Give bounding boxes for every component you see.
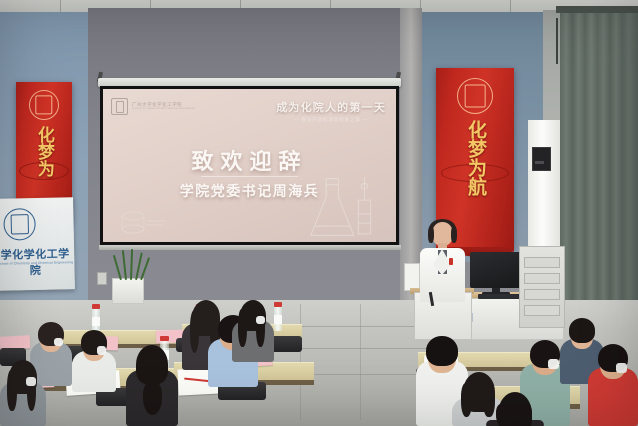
banner-right-crest-icon — [457, 78, 493, 114]
slide-subtitle: 学院党委书记周海兵 — [103, 181, 396, 201]
face-mask — [97, 346, 107, 355]
face-mask — [256, 316, 265, 325]
slide-kicker-sub: — 看见开启科课程明象之旅 — — [276, 117, 386, 123]
keyboard[interactable] — [478, 294, 524, 299]
speaker-badge — [449, 258, 453, 265]
wall-control-box-icon[interactable] — [532, 147, 551, 171]
slide-kicker: 成为化院人的第一天 — 看见开启科课程明象之旅 — — [276, 99, 386, 123]
university-crest-icon — [111, 98, 128, 115]
school-poster: 学化学化工学院 School of Chemistry and Chemical… — [0, 197, 75, 291]
slide-logo-en: SCHOOL OF CHEMISTRY AND CHEMICAL ENGINEE… — [132, 108, 195, 111]
curtain-rod — [556, 6, 638, 13]
student-hair — [426, 336, 457, 366]
wall-socket[interactable] — [97, 272, 107, 285]
student-hair — [569, 318, 596, 343]
presentation-slide: 广州大学化学化工学院 SCHOOL OF CHEMISTRY AND CHEMI… — [103, 89, 396, 242]
slide-divider — [201, 176, 298, 177]
beaker-line-art-icon — [117, 208, 179, 238]
lecture-hall-photo: 广州大学化学化工学院 SCHOOL OF CHEMISTRY AND CHEMI… — [0, 0, 638, 426]
desk-logo — [471, 313, 507, 322]
slide-kicker-main: 成为化院人的第一天 — [276, 99, 386, 115]
slide-title: 致欢迎辞 — [103, 144, 396, 176]
student-right-6 — [486, 392, 544, 426]
window-curtain[interactable] — [560, 10, 638, 340]
face-mask — [54, 338, 63, 347]
ceiling-wire — [556, 18, 558, 64]
slide-institution-logo: 广州大学化学化工学院 SCHOOL OF CHEMISTRY AND CHEMI… — [111, 98, 195, 115]
student-front-left-2 — [72, 330, 116, 392]
banner-right-text: 化梦为航 — [436, 120, 514, 201]
school-seal-icon — [3, 208, 36, 241]
face-mask — [616, 363, 627, 373]
face-mask — [548, 359, 559, 369]
potted-plant — [112, 278, 144, 304]
student-front-left-3 — [0, 360, 46, 426]
presenter-monitor — [470, 252, 522, 288]
banner-left-text: 化梦为 — [16, 126, 72, 181]
student-right-5 — [588, 344, 638, 426]
student-mid-4 — [232, 300, 274, 362]
speaker-presenter — [418, 222, 466, 300]
screen-bottom-bar — [99, 245, 401, 250]
white-cabinet — [519, 246, 565, 328]
student-mid-1 — [126, 345, 178, 426]
banner-left-crest-icon — [29, 90, 59, 120]
face-mask — [26, 377, 36, 386]
